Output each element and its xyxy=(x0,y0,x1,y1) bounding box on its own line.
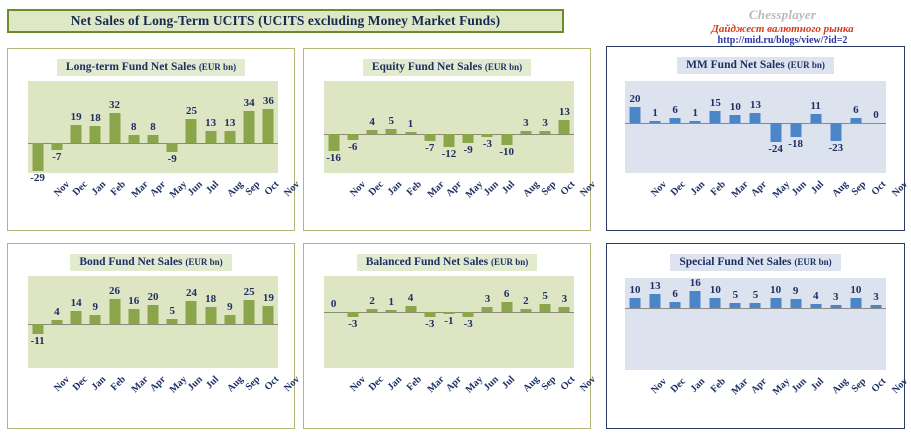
x-axis-tick-label: Jun xyxy=(789,179,808,198)
plot-area-bond-fund: -1141492616205241892519 xyxy=(28,276,278,368)
bar-slot[interactable]: -16 xyxy=(324,81,343,173)
x-axis-tick-label: Apr xyxy=(749,376,769,396)
bar-value-label: 5 xyxy=(733,290,739,301)
bar-series: 20161151013-24-1811-2360 xyxy=(625,81,886,173)
x-axis-tick-label: Mar xyxy=(425,374,446,395)
plot-area-equity-fund: -16-6451-7-12-9-3-103313 xyxy=(324,81,574,173)
chart-panel-equity-fund: Equity Fund Net Sales (EUR bn)-16-6451-7… xyxy=(303,48,591,231)
x-axis-tick-label: Apr xyxy=(148,179,168,199)
bar[interactable] xyxy=(520,309,531,312)
bar-value-label: 32 xyxy=(109,100,120,111)
bar[interactable] xyxy=(559,120,570,134)
bar-slot[interactable]: -3 xyxy=(343,276,362,368)
x-axis-tick-label: Oct xyxy=(263,374,282,393)
bar-value-label: 1 xyxy=(652,108,658,119)
bar-value-label: 4 xyxy=(369,117,375,128)
x-axis-tick-label: Jun xyxy=(482,179,501,198)
bar-value-label: 0 xyxy=(331,299,337,310)
bar[interactable] xyxy=(443,134,454,147)
bar[interactable] xyxy=(850,118,861,123)
bar-slot[interactable]: 1 xyxy=(645,81,665,173)
bar[interactable] xyxy=(424,134,435,141)
bar[interactable] xyxy=(90,315,101,324)
bar-value-label: -12 xyxy=(442,149,457,160)
bar-slot[interactable]: -6 xyxy=(343,81,362,173)
x-axis-tick-label: Jan xyxy=(689,179,708,198)
bar-slot[interactable]: 5 xyxy=(745,278,765,370)
bar-value-label: 3 xyxy=(523,118,529,129)
bar-value-label: 5 xyxy=(389,116,395,127)
bar[interactable] xyxy=(224,131,235,143)
bar[interactable] xyxy=(367,309,378,312)
bar[interactable] xyxy=(750,113,761,123)
bar[interactable] xyxy=(810,114,821,123)
bar-slot[interactable]: 0 xyxy=(866,81,886,173)
bar-slot[interactable]: 4 xyxy=(47,276,66,368)
bar[interactable] xyxy=(790,299,801,308)
bar-value-label: 1 xyxy=(693,108,699,119)
bar-slot[interactable]: 3 xyxy=(866,278,886,370)
bar-value-label: -6 xyxy=(348,142,357,153)
bar-value-label: 18 xyxy=(205,294,216,305)
bar-value-label: 2 xyxy=(369,296,375,307)
bar-slot[interactable]: 24 xyxy=(182,276,201,368)
bar-slot[interactable]: 6 xyxy=(665,278,685,370)
bar-value-label: -7 xyxy=(52,152,61,163)
bar-slot[interactable]: 25 xyxy=(182,81,201,173)
x-axis-tick-label: Jan xyxy=(689,376,708,395)
bar-value-label: 4 xyxy=(408,293,414,304)
bar-slot[interactable]: 20 xyxy=(625,81,645,173)
bar-slot[interactable]: 11 xyxy=(806,81,826,173)
chart-unit-label: (EUR bn) xyxy=(794,257,831,267)
bar-slot[interactable]: -10 xyxy=(497,81,516,173)
bar[interactable] xyxy=(650,121,661,123)
bar-slot[interactable]: -29 xyxy=(28,81,47,173)
bar-slot[interactable]: 0 xyxy=(324,276,343,368)
bar-value-label: 20 xyxy=(147,292,158,303)
bar[interactable] xyxy=(367,130,378,134)
chart-panel-balanced-fund: Balanced Fund Net Sales (EUR bn)0-3214-3… xyxy=(303,243,591,429)
bar-series: -1141492616205241892519 xyxy=(28,276,278,368)
bar-slot[interactable]: 5 xyxy=(536,276,555,368)
chart-panel-bond-fund: Bond Fund Net Sales (EUR bn)-11414926162… xyxy=(7,243,295,429)
chart-title-balanced-fund: Balanced Fund Net Sales (EUR bn) xyxy=(357,254,538,271)
bar-value-label: 10 xyxy=(730,102,741,113)
bar-value-label: 9 xyxy=(93,302,99,313)
bar-slot[interactable]: -18 xyxy=(786,81,806,173)
chart-unit-label: (EUR bn) xyxy=(485,62,522,72)
bar[interactable] xyxy=(482,307,493,312)
bar-slot[interactable]: 25 xyxy=(240,276,259,368)
bar-value-label: -16 xyxy=(326,153,341,164)
bar-value-label: -3 xyxy=(425,319,434,330)
bar-value-label: 6 xyxy=(672,105,678,116)
x-axis-tick-label: Feb xyxy=(709,376,728,395)
bar-slot[interactable]: 5 xyxy=(725,278,745,370)
chart-title-text: Equity Fund Net Sales xyxy=(372,61,485,73)
bar[interactable] xyxy=(90,126,101,143)
x-axis-tick-label: Jun xyxy=(789,376,808,395)
bar-value-label: 25 xyxy=(186,106,197,117)
bar-slot[interactable]: 19 xyxy=(66,81,85,173)
bar[interactable] xyxy=(51,143,62,150)
bar[interactable] xyxy=(810,304,821,308)
bar-slot[interactable]: 18 xyxy=(86,81,105,173)
chart-title-text: Bond Fund Net Sales xyxy=(79,256,185,268)
bar-value-label: 1 xyxy=(389,297,395,308)
x-axis-tick-label: Oct xyxy=(559,374,578,393)
bar[interactable] xyxy=(109,113,120,143)
bar[interactable] xyxy=(730,115,741,123)
bar[interactable] xyxy=(870,305,881,308)
bar-value-label: 18 xyxy=(90,113,101,124)
x-axis-tick-label: Nov xyxy=(890,179,910,199)
bar[interactable] xyxy=(501,302,512,312)
bar-value-label: 4 xyxy=(54,307,60,318)
x-axis-tick-label: Nov xyxy=(52,179,72,199)
bar-slot[interactable]: 6 xyxy=(497,276,516,368)
bar-slot[interactable]: 13 xyxy=(745,81,765,173)
bar-value-label: 10 xyxy=(770,285,781,296)
chart-panel-long-term-fund: Long-term Fund Net Sales (EUR bn)-29-719… xyxy=(7,48,295,231)
plot-area-long-term-fund: -29-719183288-92513133436 xyxy=(28,81,278,173)
bar-slot[interactable]: 10 xyxy=(725,81,745,173)
bar-slot[interactable]: 4 xyxy=(362,81,381,173)
bar-slot[interactable]: 1 xyxy=(685,81,705,173)
x-axis-tick-label: Apr xyxy=(444,179,464,199)
x-axis-tick-label: Nov xyxy=(348,374,368,394)
bar-slot[interactable]: 10 xyxy=(766,278,786,370)
x-axis-tick-label: Sep xyxy=(243,179,262,198)
x-axis-tick-label: Oct xyxy=(559,179,578,198)
x-axis-tick-label: Oct xyxy=(263,179,282,198)
bar-slot[interactable]: 4 xyxy=(806,278,826,370)
x-axis-tick-label: Dec xyxy=(367,179,386,198)
bar-slot[interactable]: 10 xyxy=(846,278,866,370)
bar-value-label: 3 xyxy=(562,294,568,305)
bar[interactable] xyxy=(650,294,661,308)
bar-slot[interactable]: 13 xyxy=(201,81,220,173)
x-axis-tick-label: Jul xyxy=(809,376,826,393)
infographic-page: Net Sales of Long-Term UCITS (UCITS excl… xyxy=(0,0,911,436)
bar-slot[interactable]: 8 xyxy=(143,81,162,173)
bar-slot[interactable]: 5 xyxy=(163,276,182,368)
bar[interactable] xyxy=(405,306,416,312)
x-axis-tick-label: Jul xyxy=(500,374,517,391)
bar-slot[interactable]: 3 xyxy=(826,278,846,370)
bar-slot[interactable]: 9 xyxy=(86,276,105,368)
bar-slot[interactable]: 10 xyxy=(625,278,645,370)
bar-value-label: -23 xyxy=(828,143,843,154)
x-axis-tick-label: Nov xyxy=(348,179,368,199)
bar-value-label: 24 xyxy=(186,288,197,299)
x-axis-tick-label: Oct xyxy=(869,376,888,395)
x-axis-tick-label: Aug xyxy=(225,374,245,394)
x-axis-tick-label: Jan xyxy=(386,179,405,198)
bar-slot[interactable]: 1 xyxy=(401,81,420,173)
x-axis-tick-label: Sep xyxy=(849,376,868,395)
bar-value-label: -3 xyxy=(483,139,492,150)
bar-slot[interactable]: -9 xyxy=(459,81,478,173)
x-axis-tick-label: Nov xyxy=(649,376,669,396)
bar[interactable] xyxy=(186,301,197,324)
bar[interactable] xyxy=(770,123,781,142)
bar[interactable] xyxy=(128,309,139,324)
bar-series: -16-6451-7-12-9-3-103313 xyxy=(324,81,574,173)
bar[interactable] xyxy=(670,302,681,308)
bar-slot[interactable]: -12 xyxy=(439,81,458,173)
bar[interactable] xyxy=(463,312,474,317)
chart-title-equity-fund: Equity Fund Net Sales (EUR bn) xyxy=(363,59,531,76)
x-axis-tick-label: Jan xyxy=(90,179,109,198)
bar-value-label: 14 xyxy=(71,298,82,309)
bar-value-label: 0 xyxy=(873,110,879,121)
bar[interactable] xyxy=(328,134,339,151)
page-title: Net Sales of Long-Term UCITS (UCITS excl… xyxy=(71,13,500,29)
bar-slot[interactable]: -1 xyxy=(439,276,458,368)
chart-title-text: Special Fund Net Sales xyxy=(679,256,794,268)
x-axis-tick-label: Sep xyxy=(539,179,558,198)
bar-slot[interactable]: 10 xyxy=(705,278,725,370)
bar[interactable] xyxy=(559,307,570,312)
bar-value-label: 6 xyxy=(504,289,510,300)
plot-area-mm-fund: 20161151013-24-1811-2360 xyxy=(625,81,886,173)
bar[interactable] xyxy=(830,305,841,308)
bar-slot[interactable]: 2 xyxy=(362,276,381,368)
bar-value-label: 8 xyxy=(150,122,156,133)
bar-slot[interactable]: 5 xyxy=(382,81,401,173)
x-axis-tick-label: Jun xyxy=(482,374,501,393)
bar-value-label: 6 xyxy=(672,289,678,300)
bar[interactable] xyxy=(205,307,216,324)
bar[interactable] xyxy=(790,123,801,137)
bar[interactable] xyxy=(386,310,397,312)
bar-slot[interactable]: 3 xyxy=(555,276,574,368)
bar[interactable] xyxy=(109,299,120,324)
bar-slot[interactable]: 13 xyxy=(555,81,574,173)
bar-value-label: 26 xyxy=(109,286,120,297)
bar[interactable] xyxy=(71,311,82,324)
bar-value-label: -3 xyxy=(348,319,357,330)
bar-slot[interactable]: 32 xyxy=(105,81,124,173)
bar-value-label: -9 xyxy=(464,145,473,156)
main-title-banner: Net Sales of Long-Term UCITS (UCITS excl… xyxy=(7,9,564,33)
bar[interactable] xyxy=(263,109,274,143)
x-axis-tick-label: Mar xyxy=(425,179,446,200)
bar-value-label: -29 xyxy=(30,173,45,184)
bar-slot[interactable]: 13 xyxy=(220,81,239,173)
bar-slot[interactable]: 26 xyxy=(105,276,124,368)
bar[interactable] xyxy=(690,121,701,123)
bar[interactable] xyxy=(347,312,358,317)
bar[interactable] xyxy=(710,298,721,309)
bar[interactable] xyxy=(830,123,841,141)
bar-value-label: 11 xyxy=(811,101,821,112)
bar[interactable] xyxy=(263,306,274,324)
bar-value-label: 25 xyxy=(244,287,255,298)
x-axis-tick-label: Dec xyxy=(669,179,688,198)
x-axis-tick-label: Feb xyxy=(709,179,728,198)
watermark: Chessplayer Дайджест валютного рынка htt… xyxy=(660,8,905,46)
bar-value-label: 9 xyxy=(227,302,233,313)
bar-slot[interactable]: -3 xyxy=(459,276,478,368)
bar[interactable] xyxy=(32,143,43,171)
watermark-url[interactable]: http://mid.ru/blogs/view/?id=2 xyxy=(660,35,905,46)
bar-slot[interactable]: 9 xyxy=(220,276,239,368)
bar[interactable] xyxy=(71,125,82,143)
bar-slot[interactable]: 36 xyxy=(259,81,278,173)
bar-value-label: 19 xyxy=(71,112,82,123)
bar-value-label: 19 xyxy=(263,293,274,304)
bar-slot[interactable]: 3 xyxy=(536,81,555,173)
bar-series: 0-3214-3-1-336253 xyxy=(324,276,574,368)
bar-slot[interactable]: -11 xyxy=(28,276,47,368)
bar-slot[interactable]: 3 xyxy=(516,81,535,173)
bar[interactable] xyxy=(501,134,512,145)
plot-area-balanced-fund: 0-3214-3-1-336253 xyxy=(324,276,574,368)
bar[interactable] xyxy=(770,298,781,309)
bar-slot[interactable]: 6 xyxy=(665,81,685,173)
x-axis-tick-label: Mar xyxy=(129,179,150,200)
bar[interactable] xyxy=(186,119,197,143)
bar-value-label: 10 xyxy=(850,285,861,296)
bar[interactable] xyxy=(540,131,551,134)
watermark-brand: Chessplayer xyxy=(660,8,905,22)
bar-slot[interactable]: -9 xyxy=(163,81,182,173)
bar[interactable] xyxy=(386,129,397,134)
bar[interactable] xyxy=(424,312,435,317)
bar-value-label: 13 xyxy=(205,118,216,129)
bar[interactable] xyxy=(710,111,721,123)
bar[interactable] xyxy=(405,132,416,134)
bar-slot[interactable]: 16 xyxy=(685,278,705,370)
chart-panel-special-fund: Special Fund Net Sales (EUR bn)101361610… xyxy=(606,243,905,429)
bar-slot[interactable]: -7 xyxy=(47,81,66,173)
x-axis-tick-label: Nov xyxy=(282,374,302,394)
bar-value-label: 3 xyxy=(873,292,879,303)
bar-value-label: 2 xyxy=(523,296,529,307)
bar-value-label: 13 xyxy=(559,107,570,118)
bar-slot[interactable]: 19 xyxy=(259,276,278,368)
bar-value-label: -1 xyxy=(444,316,453,327)
x-axis-tick-label: Jul xyxy=(204,374,221,391)
bar[interactable] xyxy=(520,131,531,134)
bar[interactable] xyxy=(630,298,641,309)
bar[interactable] xyxy=(540,304,551,312)
bar[interactable] xyxy=(482,134,493,137)
x-axis-tick-label: Aug xyxy=(521,179,541,199)
bar-slot[interactable]: 14 xyxy=(66,276,85,368)
bar-slot[interactable]: 8 xyxy=(124,81,143,173)
bar-slot[interactable]: -3 xyxy=(478,81,497,173)
bar-slot[interactable]: 4 xyxy=(401,276,420,368)
bar[interactable] xyxy=(630,107,641,123)
bar[interactable] xyxy=(463,134,474,143)
bar[interactable] xyxy=(147,305,158,324)
bar-value-label: 1 xyxy=(408,119,414,130)
x-axis-tick-label: Aug xyxy=(225,179,245,199)
bar[interactable] xyxy=(750,303,761,308)
bar[interactable] xyxy=(443,312,454,314)
x-axis-tick-label: Nov xyxy=(578,374,598,394)
bar-slot[interactable]: 2 xyxy=(516,276,535,368)
bar[interactable] xyxy=(690,291,701,308)
x-axis-tick-label: Sep xyxy=(243,374,262,393)
bar-slot[interactable]: 6 xyxy=(846,81,866,173)
bar-value-label: 5 xyxy=(753,290,759,301)
x-axis-tick-label: Dec xyxy=(367,374,386,393)
bar[interactable] xyxy=(730,303,741,308)
chart-unit-label: (EUR bn) xyxy=(788,60,825,70)
x-axis-tick-label: Jun xyxy=(186,179,205,198)
plot-area-special-fund: 1013616105510943103 xyxy=(625,278,886,370)
bar-slot[interactable]: 34 xyxy=(240,81,259,173)
bar[interactable] xyxy=(850,298,861,309)
bar-value-label: 10 xyxy=(710,285,721,296)
bar-value-label: 34 xyxy=(244,98,255,109)
x-axis-tick-label: Sep xyxy=(849,179,868,198)
bar[interactable] xyxy=(128,135,139,143)
chart-title-text: MM Fund Net Sales xyxy=(686,59,788,71)
bar-slot[interactable]: -24 xyxy=(766,81,786,173)
bar-value-label: 13 xyxy=(750,100,761,111)
x-axis-tick-label: Feb xyxy=(109,179,128,198)
bar-slot[interactable]: 9 xyxy=(786,278,806,370)
bar[interactable] xyxy=(224,315,235,324)
x-axis-tick-label: Nov xyxy=(649,179,669,199)
x-axis-tick-label: Aug xyxy=(830,376,850,396)
x-axis-tick-label: Mar xyxy=(129,374,150,395)
bar-slot[interactable]: 16 xyxy=(124,276,143,368)
bar-slot[interactable]: 20 xyxy=(143,276,162,368)
bar-slot[interactable]: 18 xyxy=(201,276,220,368)
bar-slot[interactable]: -3 xyxy=(420,276,439,368)
bar[interactable] xyxy=(32,324,43,334)
x-axis-tick-label: Feb xyxy=(109,374,128,393)
chart-unit-label: (EUR bn) xyxy=(491,257,528,267)
bar-series: 1013616105510943103 xyxy=(625,278,886,370)
bar[interactable] xyxy=(167,143,178,152)
bar-slot[interactable]: 13 xyxy=(645,278,665,370)
bar-slot[interactable]: 15 xyxy=(705,81,725,173)
bar[interactable] xyxy=(244,300,255,324)
bar[interactable] xyxy=(51,320,62,324)
bar-value-label: 13 xyxy=(650,281,661,292)
bar-slot[interactable]: 1 xyxy=(382,276,401,368)
bar-slot[interactable]: -23 xyxy=(826,81,846,173)
x-axis-tick-label: Jan xyxy=(90,374,109,393)
bar-slot[interactable]: -7 xyxy=(420,81,439,173)
chart-title-mm-fund: MM Fund Net Sales (EUR bn) xyxy=(677,57,834,74)
x-axis-tick-label: Mar xyxy=(730,376,751,397)
bar-value-label: 10 xyxy=(630,285,641,296)
x-axis-tick-label: Dec xyxy=(71,374,90,393)
bar[interactable] xyxy=(670,118,681,123)
bar-slot[interactable]: 3 xyxy=(478,276,497,368)
bar-value-label: -9 xyxy=(168,154,177,165)
chart-unit-label: (EUR bn) xyxy=(199,62,236,72)
x-axis-tick-label: Oct xyxy=(869,179,888,198)
bar[interactable] xyxy=(205,131,216,143)
bar-value-label: 13 xyxy=(224,118,235,129)
bar[interactable] xyxy=(167,319,178,324)
bar[interactable] xyxy=(347,134,358,140)
bar-value-label: -3 xyxy=(464,319,473,330)
x-axis-tick-label: Jan xyxy=(386,374,405,393)
bar[interactable] xyxy=(244,111,255,143)
bar[interactable] xyxy=(147,135,158,143)
